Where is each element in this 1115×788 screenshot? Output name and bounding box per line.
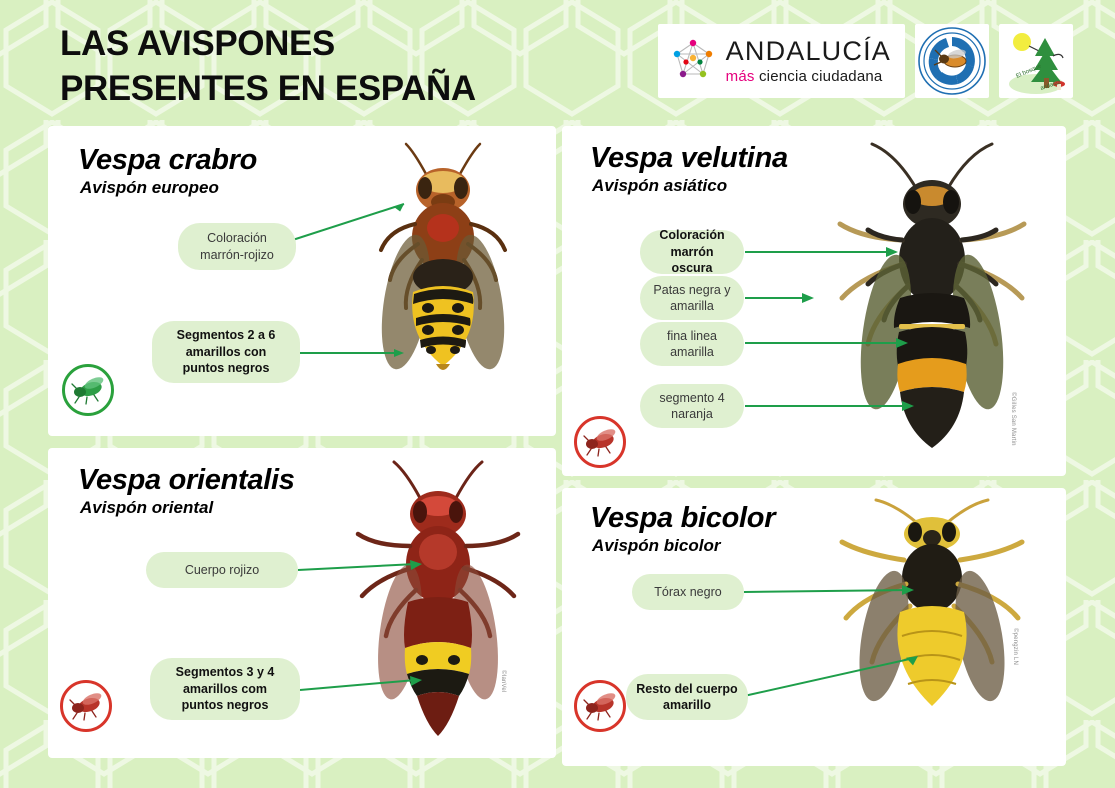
leader-lines-bicolor bbox=[562, 488, 1066, 766]
green-hornet-circle-icon bbox=[67, 369, 109, 411]
leader-lines-orientalis bbox=[48, 448, 556, 758]
callout-velutina-3: segmento 4 naranja bbox=[640, 384, 744, 428]
circular-seal-icon bbox=[917, 26, 987, 96]
callout-orientalis-0: Cuerpo rojizo bbox=[146, 552, 298, 588]
logo-andalucia-mas-ciencia-ciudadana: ANDALUCÍA más ciencia ciudadana bbox=[658, 24, 905, 98]
photo-credit-velutina: ©Gilles San Martin bbox=[1010, 392, 1016, 446]
callout-velutina-0: Coloración marrón oscura bbox=[640, 230, 744, 274]
callout-velutina-1: Patas negra y amarilla bbox=[640, 276, 744, 320]
callout-bicolor-0: Tórax negro bbox=[632, 574, 744, 610]
callout-bicolor-1: Resto del cuerpo amarillo bbox=[626, 674, 748, 720]
logo-strip: ANDALUCÍA más ciencia ciudadana bbox=[658, 24, 1073, 98]
photo-credit-bicolor: ©pengzin LN bbox=[1012, 628, 1018, 665]
status-badge-velutina bbox=[574, 416, 626, 468]
logo-andalucia-tagline: más ciencia ciudadana bbox=[726, 69, 891, 84]
logo-tagline-rest: ciencia ciudadana bbox=[755, 68, 883, 85]
logo-andalucia-wordmark: ANDALUCÍA bbox=[726, 38, 891, 65]
leader-lines-crabro bbox=[48, 126, 556, 436]
page-title: LAS AVISPONES PRESENTES EN ESPAÑA bbox=[60, 22, 476, 112]
network-star-icon bbox=[668, 36, 718, 86]
status-badge-orientalis bbox=[60, 680, 112, 732]
logo-el-bosque-andaluz: El bosque andaluz bbox=[999, 24, 1073, 98]
leader-lines-velutina bbox=[562, 126, 1066, 476]
callout-crabro-0: Coloración marrón-rojizo bbox=[178, 223, 296, 270]
forest-tree-icon: El bosque andaluz bbox=[1001, 26, 1071, 96]
red-hornet-circle-icon bbox=[65, 685, 107, 727]
page-header: LAS AVISPONES PRESENTES EN ESPAÑA ANDALU… bbox=[0, 0, 1115, 118]
red-hornet-circle-icon bbox=[579, 421, 621, 463]
callout-orientalis-1: Segmentos 3 y 4 amarillos com puntos neg… bbox=[150, 658, 300, 720]
species-card-orientalis: Vespa orientalis Avispón oriental ©IanVe… bbox=[48, 448, 556, 758]
logo-tagline-accent: más bbox=[726, 68, 755, 85]
logo-proyecto-avispon-oriental-seal bbox=[915, 24, 989, 98]
status-badge-bicolor bbox=[574, 680, 626, 732]
species-card-velutina: Vespa velutina Avispón asiático ©Gilles … bbox=[562, 126, 1066, 476]
species-card-bicolor: Vespa bicolor Avispón bicolor ©pengzin L… bbox=[562, 488, 1066, 766]
photo-credit-orientalis: ©IanVel bbox=[500, 670, 506, 693]
red-hornet-circle-icon bbox=[579, 685, 621, 727]
callout-velutina-2: fina linea amarilla bbox=[640, 322, 744, 366]
species-card-crabro: Vespa crabro Avispón europeo bbox=[48, 126, 556, 436]
status-badge-crabro bbox=[62, 364, 114, 416]
callout-crabro-1: Segmentos 2 a 6 amarillos con puntos neg… bbox=[152, 321, 300, 383]
